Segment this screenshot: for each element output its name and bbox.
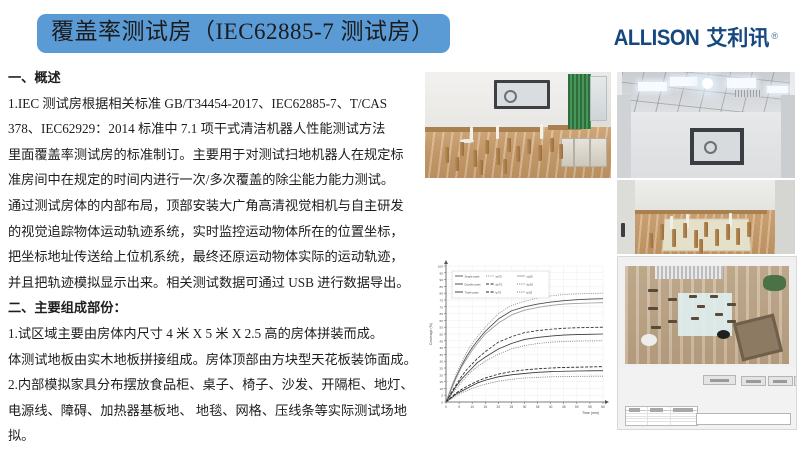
door-frame-right	[775, 180, 795, 254]
obstacle-post	[670, 216, 673, 229]
logo-text-en: ALLISON	[614, 25, 700, 51]
svg-text:Double pass: Double pass	[465, 282, 482, 286]
svg-text:20: 20	[497, 405, 501, 409]
svg-text:70: 70	[440, 305, 444, 309]
page-title: 覆盖率测试房（IEC62885-7 测试房）	[37, 14, 450, 53]
obstacle-marker	[727, 303, 736, 306]
svg-text:10: 10	[440, 387, 444, 391]
obstacle-post	[559, 144, 563, 159]
svg-text:Triple pass: Triple pass	[465, 290, 480, 294]
registered-trademark-icon: ®	[771, 31, 778, 41]
svg-text:60: 60	[440, 319, 444, 323]
svg-text:25: 25	[510, 405, 514, 409]
svg-text:30: 30	[440, 360, 444, 364]
obstacle-post	[455, 157, 459, 171]
svg-text:15: 15	[483, 405, 487, 409]
obstacle-post	[704, 222, 708, 237]
action-button[interactable]	[768, 376, 793, 386]
photo-test-room-ceiling	[617, 72, 795, 178]
action-button[interactable]	[794, 376, 797, 386]
paragraph-line: 378、IEC62929：2014 标准中 7.1 项干式清洁机器人性能测试方法	[8, 117, 420, 142]
obstacle-post	[538, 145, 542, 161]
results-table[interactable]	[625, 406, 698, 426]
camera-view-panel	[625, 266, 789, 364]
svg-text:Single pass: Single pass	[465, 274, 480, 278]
paragraph-line: 的视觉追踪物体运动轨迹系统，实时监控运动物体所在的位置坐标，	[8, 220, 420, 245]
svg-text:55: 55	[440, 326, 444, 330]
svg-text:5: 5	[458, 405, 460, 409]
coverage-chart: 0510152025303540455055606570758085909510…	[425, 256, 611, 428]
photo-tracking-software-screenshot	[617, 256, 797, 430]
plant-object	[763, 275, 786, 291]
control-panel	[618, 367, 796, 429]
room-wall	[617, 180, 795, 211]
obstacle-marker	[648, 307, 658, 310]
svg-text:45: 45	[440, 339, 444, 343]
wall-mounted-frame	[690, 128, 744, 165]
svg-text:35: 35	[536, 405, 540, 409]
door-frame-left	[617, 180, 635, 254]
obstacle-post	[649, 233, 653, 248]
svg-text:90: 90	[440, 278, 444, 282]
window	[590, 76, 607, 120]
baseboard	[425, 127, 540, 132]
log-textarea[interactable]	[696, 413, 791, 426]
green-curtain	[568, 74, 590, 129]
obstacle-post	[540, 124, 543, 139]
obstacle-post	[496, 148, 500, 165]
door-handle	[621, 223, 625, 237]
svg-text:30: 30	[523, 405, 527, 409]
photo-test-room-wooden-floor	[425, 72, 611, 178]
ceiling-light-panel	[727, 78, 755, 88]
shelf-box	[561, 138, 608, 168]
obstacle-marker	[651, 326, 661, 329]
svg-text:5: 5	[441, 394, 443, 398]
paragraph-line: 2.内部模拟家具分布摆放食品柜、桌子、椅子、沙发、开隔柜、地灯、	[8, 373, 420, 398]
obstacle-post	[507, 138, 511, 152]
obstacle-post	[473, 150, 477, 167]
action-button[interactable]	[741, 376, 766, 386]
svg-text:75: 75	[440, 299, 444, 303]
svg-text:tp75: tp75	[496, 290, 502, 294]
svg-text:15: 15	[440, 380, 444, 384]
obstacle-post	[683, 223, 687, 238]
svg-text:sp75: sp75	[496, 274, 503, 278]
obstacle-marker	[689, 295, 697, 298]
obstacle-post	[460, 142, 464, 156]
paragraph-line: 电源线、障碍、加热器基板地、 地毯、网格、压线条等实际测试场地	[8, 399, 420, 424]
obstacle-post	[672, 229, 676, 247]
wall-mounted-frame	[494, 80, 550, 108]
svg-text:85: 85	[440, 285, 444, 289]
section-heading-1: 一、概述	[8, 66, 420, 91]
svg-text:dp75: dp75	[496, 282, 503, 286]
company-logo: ALLISON艾利讯®	[610, 22, 778, 52]
paragraph-line: 拟。	[8, 424, 420, 449]
obstacle-post	[470, 127, 473, 140]
svg-text:40: 40	[549, 405, 553, 409]
ceiling-light-panel	[638, 82, 666, 92]
svg-text:35: 35	[440, 353, 444, 357]
paragraph-line: 把坐标地址传送给上位机系统，最终还原运动物体实际的运动轨迹，	[8, 245, 420, 270]
obstacle-post	[496, 125, 499, 139]
svg-text:40: 40	[440, 346, 444, 350]
svg-text:tp25: tp25	[527, 290, 533, 294]
svg-text:10: 10	[470, 405, 474, 409]
obstacle-post	[485, 140, 489, 154]
svg-text:20: 20	[440, 373, 444, 377]
obstacle-post	[503, 159, 507, 174]
svg-text:50: 50	[575, 405, 579, 409]
obstacle-marker	[710, 295, 718, 298]
obstacle-post	[516, 146, 520, 162]
svg-text:80: 80	[440, 292, 444, 296]
baseboard	[624, 210, 766, 214]
section-heading-2: 二、主要组成部份：	[8, 296, 420, 321]
obstacle-marker	[668, 320, 677, 323]
obstacle-post	[736, 228, 740, 245]
paragraph-line: 1.试区域主要由房体内尺寸 4 米 X 5 米 X 2.5 高的房体拼装而成。	[8, 322, 420, 347]
svg-text:55: 55	[588, 405, 592, 409]
obstacle-post	[527, 139, 531, 154]
svg-text:Coverage (%): Coverage (%)	[429, 323, 433, 345]
obstacle-post	[694, 230, 698, 248]
svg-text:0: 0	[445, 405, 447, 409]
slide-page: 覆盖率测试房（IEC62885-7 测试房） ALLISON艾利讯® 一、概述 …	[0, 0, 800, 450]
svg-text:60: 60	[601, 405, 605, 409]
obstacle-post	[726, 224, 730, 240]
obstacle-post	[550, 138, 554, 152]
paragraph-line: 里面覆盖率测试房的标准制订。主要用于对测试扫地机器人在规定标	[8, 143, 420, 168]
svg-text:50: 50	[440, 333, 444, 337]
page-header: 覆盖率测试房（IEC62885-7 测试房） ALLISON艾利讯®	[0, 0, 800, 66]
paragraph-line: 体测试地板由实木地板拼接组成。房体顶部由方块型天花板装饰面成。	[8, 348, 420, 373]
svg-text:sp25: sp25	[527, 274, 534, 278]
obstacle-post	[660, 224, 664, 240]
ceiling-light-panel	[670, 77, 697, 85]
obstacle-marker	[691, 317, 699, 320]
table-header	[626, 407, 697, 411]
paragraph-line: 1.IEC 测试房根据相关标准 GB/T34454-2017、IEC62885-…	[8, 92, 420, 117]
svg-text:45: 45	[562, 405, 566, 409]
obstacle-marker	[715, 313, 723, 316]
obstacle-marker	[697, 305, 705, 308]
logo-text-cn: 艾利讯	[706, 22, 769, 52]
paragraph-line: 通过测试房体的内部布局，顶部安装大广角高清视觉相机与自主研发	[8, 194, 420, 219]
svg-text:25: 25	[440, 367, 444, 371]
obstacle-post	[445, 147, 449, 163]
obstacle-post	[699, 239, 703, 254]
photo-test-room-carpet	[617, 180, 795, 254]
svg-text:0: 0	[441, 401, 443, 405]
svg-text:100: 100	[438, 265, 443, 269]
svg-text:Time (min): Time (min)	[582, 411, 599, 415]
obstacle-marker	[668, 298, 677, 301]
paragraph-line: 并且把轨迹模拟显示出来。相关测试数据可通过 USB 进行数据导出。	[8, 271, 420, 296]
ceiling-strip	[655, 266, 724, 280]
obstacle-post	[479, 160, 483, 175]
svg-text:dp25: dp25	[527, 282, 534, 286]
action-button[interactable]	[703, 375, 735, 386]
body-text-column: 一、概述 1.IEC 测试房根据相关标准 GB/T34454-2017、IEC6…	[8, 66, 420, 450]
room-wall-right	[781, 95, 795, 178]
air-vent	[735, 90, 762, 97]
obstacle-post	[715, 229, 719, 246]
room-wall-left	[617, 95, 631, 178]
paragraph-line: 准房间中在规定的时间内进行一次/多次覆盖的除尘能力能力测试。	[8, 168, 420, 193]
obstacle-marker	[648, 289, 658, 292]
svg-text:65: 65	[440, 312, 444, 316]
svg-text:95: 95	[440, 271, 444, 275]
chart-svg: 0510152025303540455055606570758085909510…	[425, 256, 611, 428]
ceiling-light-panel	[767, 86, 788, 93]
obstacle-post	[747, 222, 751, 237]
